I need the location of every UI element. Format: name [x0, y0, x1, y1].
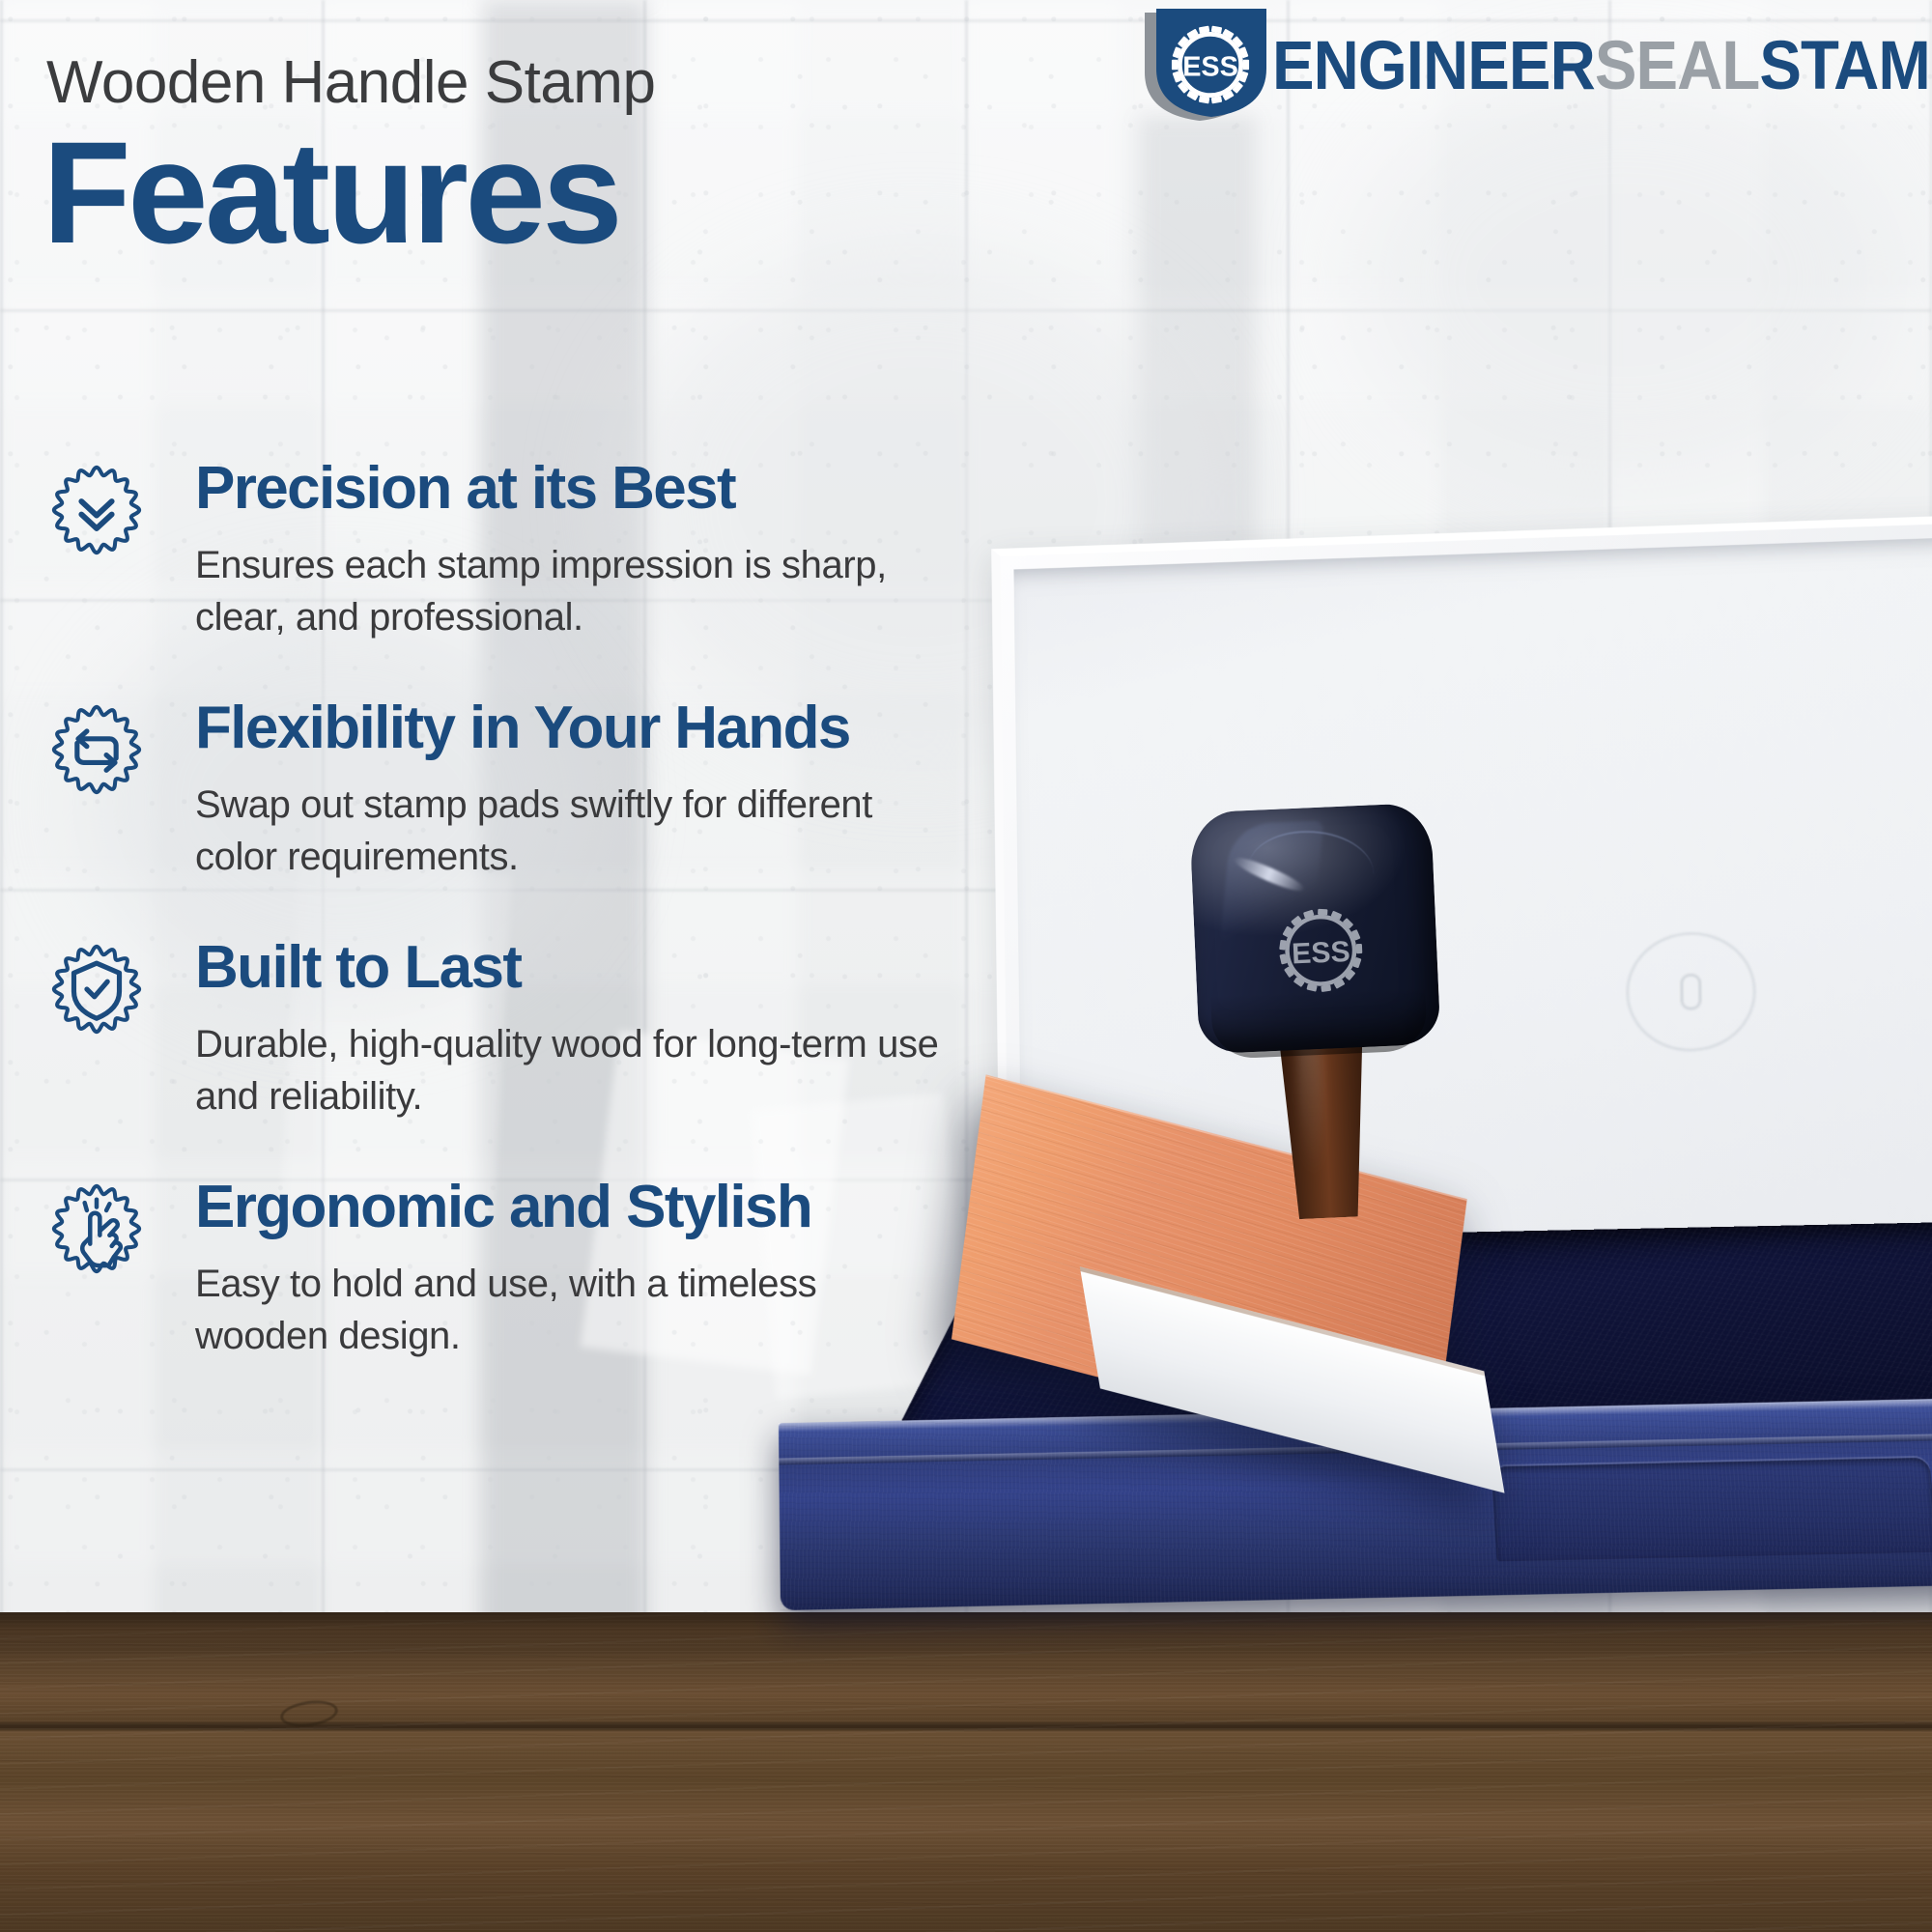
infographic-canvas: ESS ESS ENGINEERSEALSTAMPS .COM	[0, 0, 1932, 1932]
feature-text-block: Flexibility in Your Hands Swap out stamp…	[195, 692, 1028, 883]
content-layer: ESS ENGINEERSEALSTAMPS .COM Wooden Handl…	[0, 0, 1932, 1932]
logo-shield-badge: ESS	[1145, 9, 1268, 123]
logo-ess-text: ESS	[1182, 52, 1238, 83]
feature-description: Ensures each stamp impression is sharp, …	[195, 540, 958, 643]
badge-chevron-down-icon	[43, 456, 151, 564]
logo-word-seal: SEAL	[1595, 32, 1760, 100]
feature-text-block: Built to Last Durable, high-quality wood…	[195, 931, 1028, 1122]
feature-text-block: Ergonomic and Stylish Easy to hold and u…	[195, 1171, 1028, 1362]
feature-title: Built to Last	[195, 937, 1028, 998]
brand-logo[interactable]: ESS ENGINEERSEALSTAMPS .COM	[1145, 8, 1927, 124]
feature-description: Swap out stamp pads swiftly for differen…	[195, 780, 958, 883]
feature-title: Flexibility in Your Hands	[195, 697, 1028, 758]
badge-hand-tap-icon	[43, 1175, 151, 1283]
feature-item: Built to Last Durable, high-quality wood…	[43, 931, 1028, 1124]
feature-title: Precision at its Best	[195, 458, 1028, 519]
feature-text-block: Precision at its Best Ensures each stamp…	[195, 452, 1028, 643]
features-list: Precision at its Best Ensures each stamp…	[43, 452, 1028, 1410]
feature-description: Easy to hold and use, with a timeless wo…	[195, 1259, 958, 1362]
feature-description: Durable, high-quality wood for long-term…	[195, 1019, 958, 1122]
badge-shield-check-icon	[43, 935, 151, 1043]
feature-item: Precision at its Best Ensures each stamp…	[43, 452, 1028, 645]
page-eyebrow: Wooden Handle Stamp	[46, 48, 655, 117]
feature-item: Ergonomic and Stylish Easy to hold and u…	[43, 1171, 1028, 1364]
page-title: Features	[43, 124, 619, 262]
logo-gear-icon: ESS	[1164, 18, 1257, 111]
logo-wordmark: ENGINEERSEALSTAMPS	[1272, 32, 1932, 100]
badge-swap-arrows-icon	[43, 696, 151, 804]
feature-title: Ergonomic and Stylish	[195, 1177, 1028, 1237]
logo-word-stamps: STAMPS	[1759, 32, 1932, 100]
feature-item: Flexibility in Your Hands Swap out stamp…	[43, 692, 1028, 885]
logo-word-engineer: ENGINEER	[1272, 32, 1595, 100]
